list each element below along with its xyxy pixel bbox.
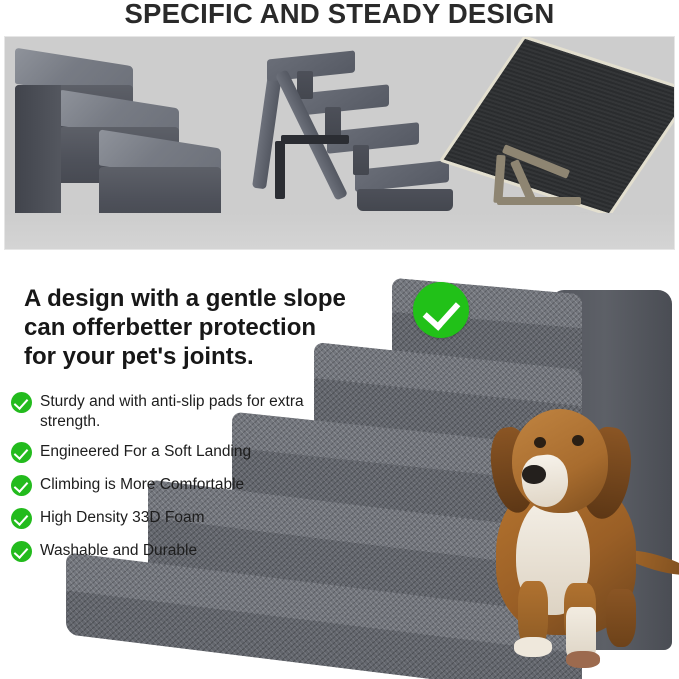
x-badge-product-1 <box>119 215 165 250</box>
benefit-item: Climbing is More Comfortable <box>8 475 348 497</box>
check-mark-icon <box>413 282 469 338</box>
benefit-text: High Density 33D Foam <box>40 509 205 526</box>
negative-caption-1: Not Easy To Climb <box>205 222 324 238</box>
pet-image-beagle-dog <box>470 405 679 679</box>
check-circle-icon <box>11 442 32 463</box>
negative-caption-2: Slippery Easy To Fall <box>413 222 548 238</box>
benefit-text: Sturdy and with anti-slip pads for extra… <box>40 393 304 430</box>
product-image-grey-foam-block-stairs <box>7 37 247 250</box>
benefit-text: Engineered For a Soft Landing <box>40 443 251 460</box>
positive-heading: A design with a gentle slope can offerbe… <box>24 284 354 371</box>
x-badge-product-3 <box>561 215 607 250</box>
benefit-text: Washable and Durable <box>40 542 197 559</box>
check-circle-icon <box>11 392 32 413</box>
check-circle-icon <box>11 541 32 562</box>
benefit-item: High Density 33D Foam <box>8 508 348 530</box>
x-badge-product-2 <box>343 215 389 250</box>
check-circle-icon <box>11 508 32 529</box>
product-image-wooden-carpet-ramp <box>457 37 675 250</box>
benefit-item: Engineered For a Soft Landing <box>8 442 348 464</box>
benefit-item: Washable and Durable <box>8 541 348 563</box>
check-circle-icon <box>11 475 32 496</box>
benefit-text: Climbing is More Comfortable <box>40 476 244 493</box>
product-image-plastic-folding-stairs <box>251 37 451 250</box>
benefit-list: Sturdy and with anti-slip pads for extra… <box>8 392 348 574</box>
benefit-item: Sturdy and with anti-slip pads for extra… <box>8 392 348 431</box>
negative-examples-panel: Not Easy To Climb Slippery Easy To Fall <box>4 36 675 250</box>
page-title: SPECIFIC AND STEADY DESIGN <box>0 0 679 30</box>
